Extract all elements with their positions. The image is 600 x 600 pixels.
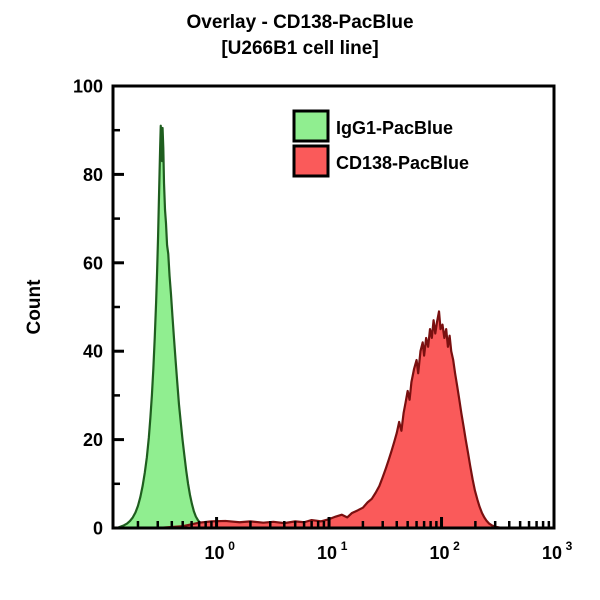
y-tick-label: 20 xyxy=(83,430,103,450)
x-tick-label: 100 xyxy=(205,539,236,563)
legend-swatch-cd138-pacblue xyxy=(294,146,328,176)
histogram-plot: 020406080100 100101102103 Count IgG1-Pac… xyxy=(0,0,600,600)
x-tick-label-mantissa: 10 xyxy=(542,543,562,563)
x-tick-label-mantissa: 10 xyxy=(430,543,450,563)
x-tick-label-exponent: 0 xyxy=(228,539,235,553)
x-tick-label-exponent: 3 xyxy=(566,539,573,553)
x-tick-label: 101 xyxy=(317,539,348,563)
y-axis-title: Count xyxy=(24,279,45,335)
x-tick-label-mantissa: 10 xyxy=(317,543,337,563)
x-tick-label: 102 xyxy=(430,539,461,563)
legend-label-cd138-pacblue: CD138-PacBlue xyxy=(336,153,469,173)
flow-cytometry-overlay-figure: Overlay - CD138-PacBlue [U266B1 cell lin… xyxy=(0,0,600,600)
x-tick-label: 103 xyxy=(542,539,573,563)
legend-label-igg1-pacblue: IgG1-PacBlue xyxy=(336,118,453,138)
y-tick-label: 80 xyxy=(83,165,103,185)
y-tick-label: 0 xyxy=(93,519,103,539)
y-tick-label: 60 xyxy=(83,253,103,273)
x-tick-label-mantissa: 10 xyxy=(205,543,225,563)
x-axis-tick-labels: 100101102103 xyxy=(205,539,573,563)
y-tick-label: 40 xyxy=(83,342,103,362)
legend-swatch-igg1-pacblue xyxy=(294,111,328,141)
y-tick-label: 100 xyxy=(73,77,103,97)
x-tick-label-exponent: 2 xyxy=(453,539,460,553)
x-tick-label-exponent: 1 xyxy=(341,539,348,553)
y-axis-tick-labels: 020406080100 xyxy=(73,77,103,539)
